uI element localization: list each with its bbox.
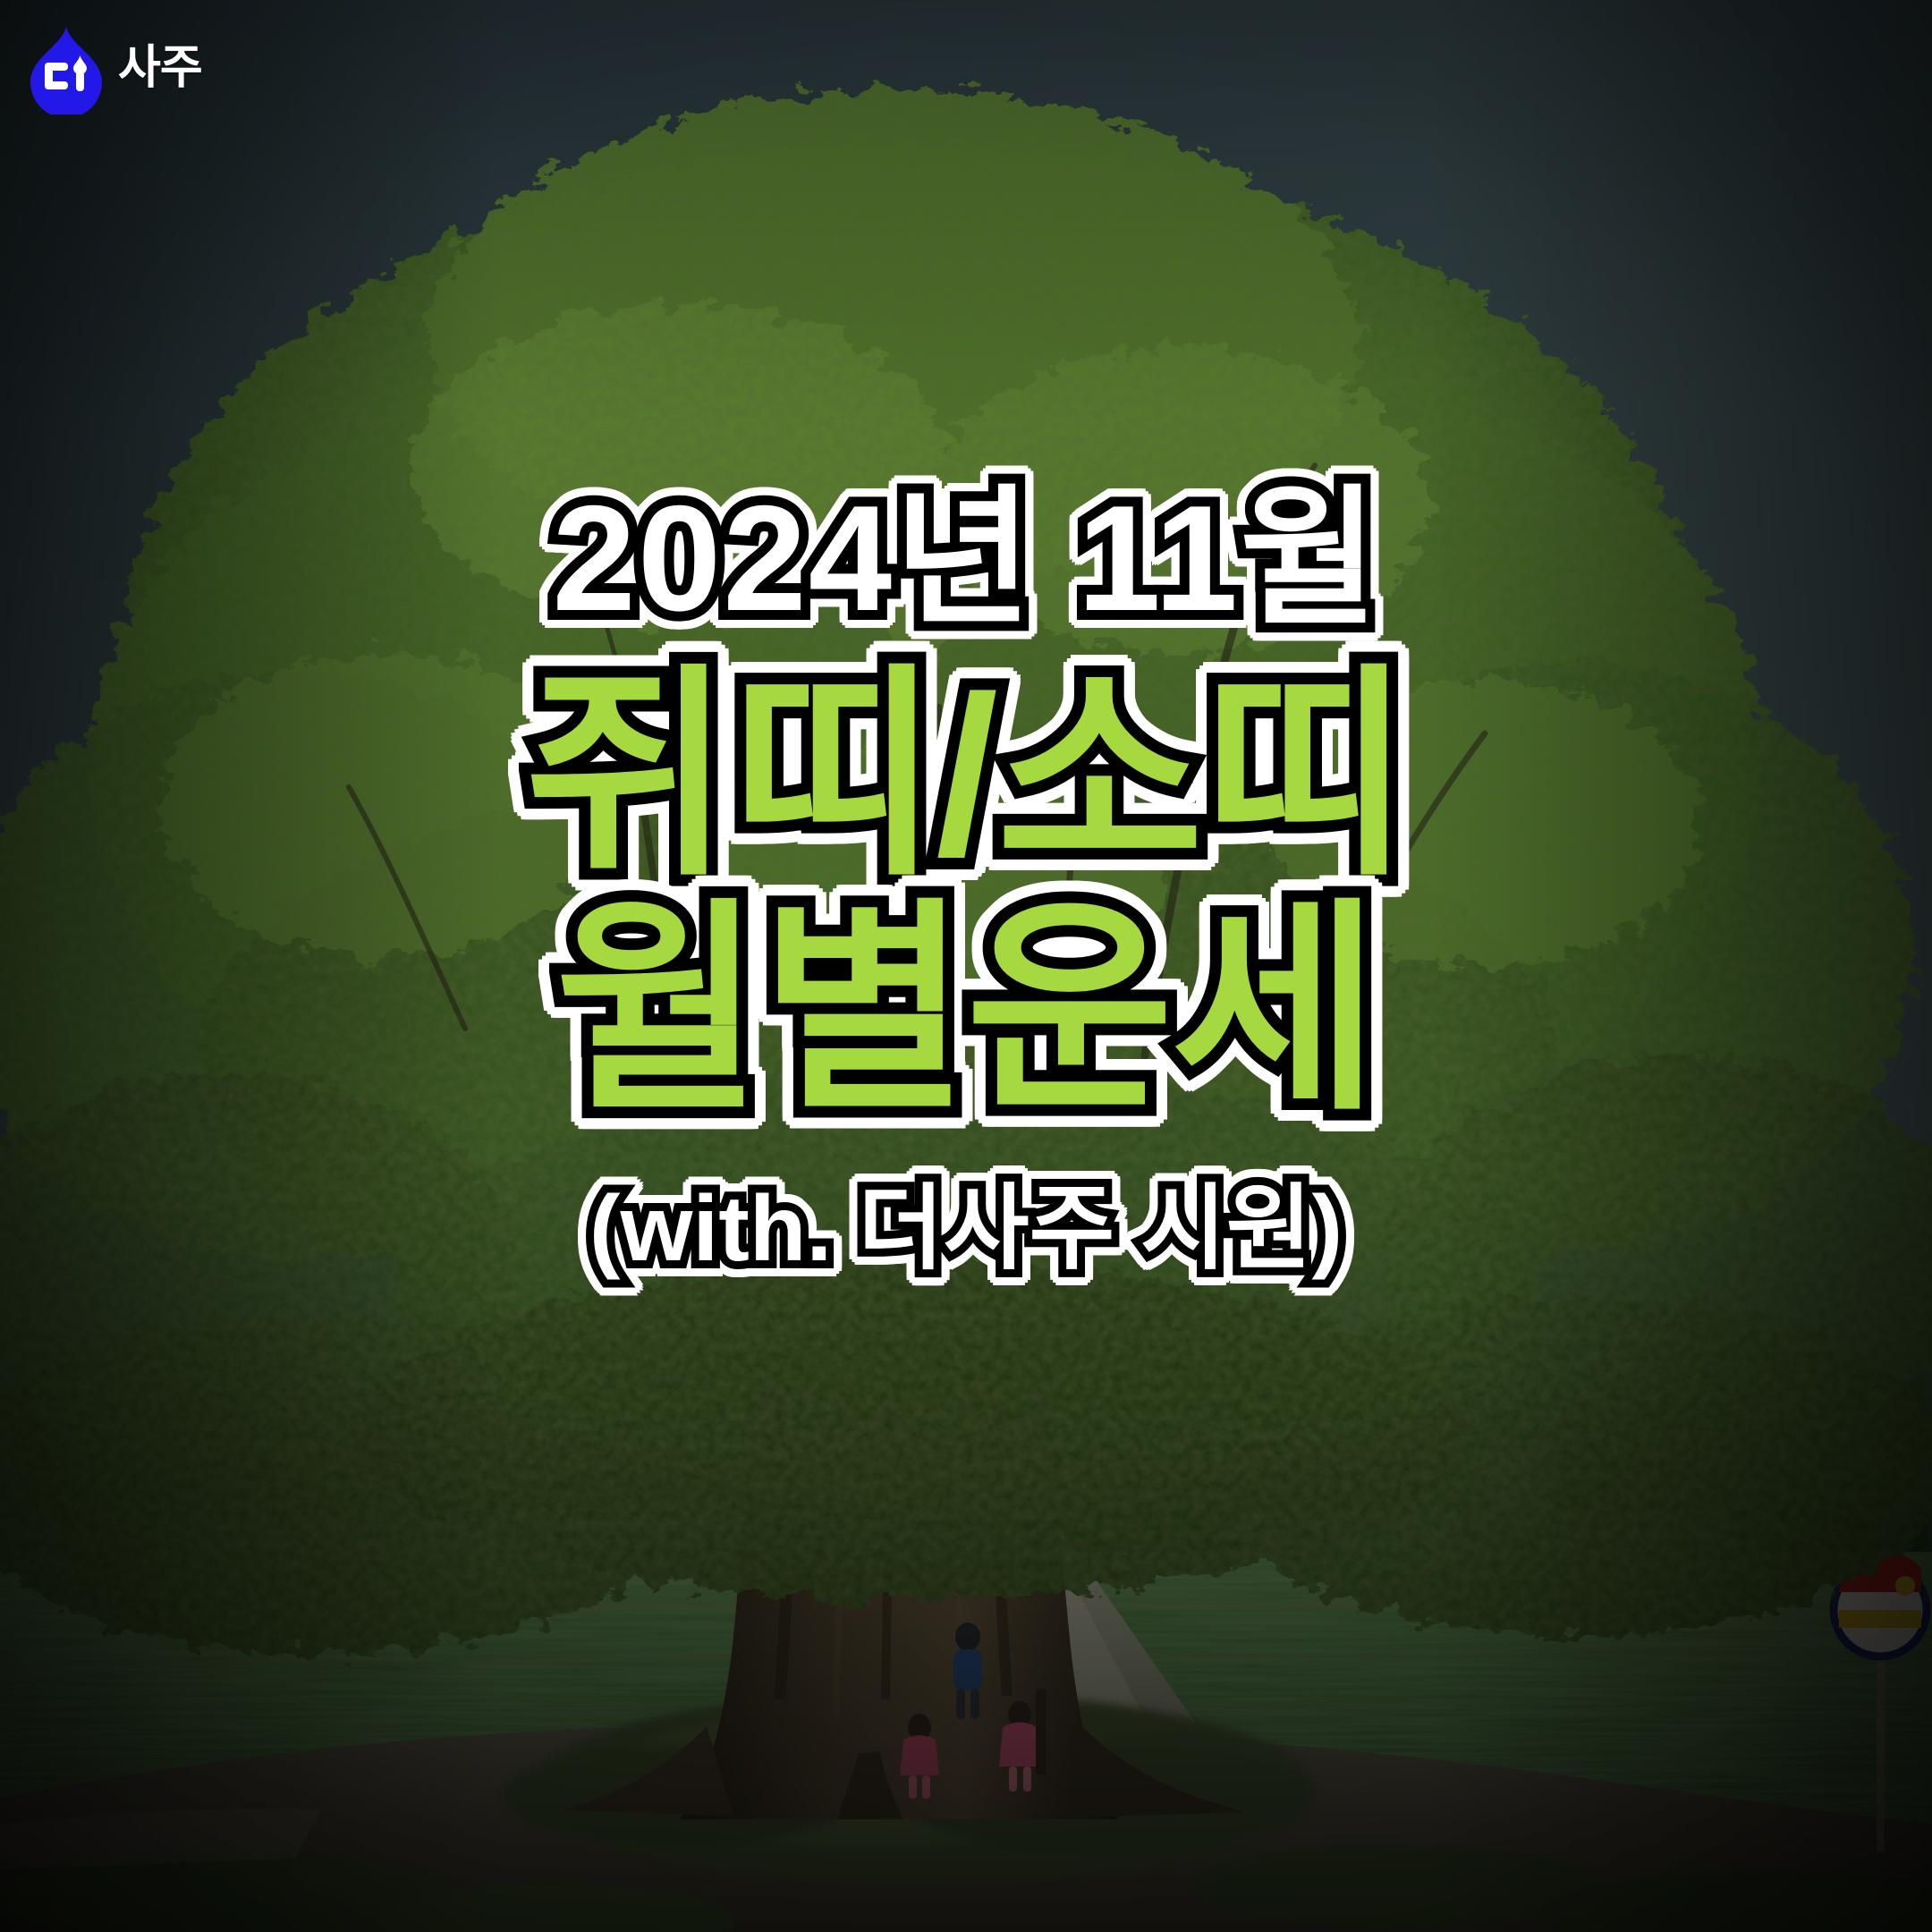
brand-logo[interactable]: 사주 — [25, 25, 202, 114]
zodiac-line: 쥐띠/소띠 — [0, 664, 1932, 889]
topic-line: 월별운세 — [0, 898, 1932, 1123]
brand-name: 사주 — [118, 45, 202, 95]
teardrop-logo-icon — [25, 25, 107, 114]
credit-line: (with. 더사주 시원) — [0, 1182, 1932, 1275]
year-month-line: 2024년 11월 — [0, 483, 1932, 633]
headline-block: 2024년 11월 쥐띠/소띠 월별운세 (with. 더사주 시원) — [0, 483, 1932, 1275]
poster-canvas: 사주 2024년 11월 쥐띠/소띠 월별운세 (with. 더사주 시원) — [0, 0, 1932, 1932]
